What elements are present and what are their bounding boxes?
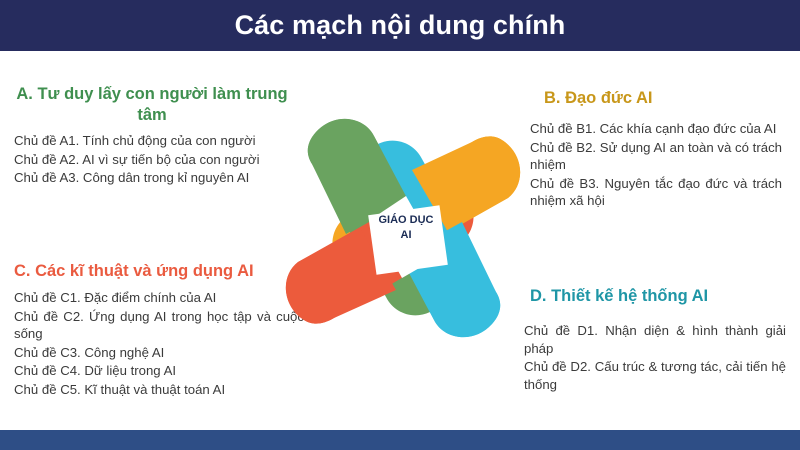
section-c: C. Các kĩ thuật và ứng dụng AI Chủ đề C1… [14, 261, 304, 399]
slide-canvas: Các mạch nội dung chính A. Tư duy lấy co… [0, 0, 800, 450]
section-d: D. Thiết kế hệ thống AI Chủ đề D1. Nhận … [524, 286, 786, 394]
topic-b1: Chủ đề B1. Các khía cạnh đạo đức của AI [530, 120, 782, 138]
topic-d1: Chủ đề D1. Nhận diện & hình thành giải p… [524, 322, 786, 357]
section-c-heading: C. Các kĩ thuật và ứng dụng AI [14, 261, 304, 282]
topic-b3: Chủ đề B3. Nguyên tắc đạo đức và trách n… [530, 175, 782, 210]
section-b-heading: B. Đạo đức AI [544, 88, 782, 109]
pinwheel-diagram [272, 92, 540, 360]
topic-a3: Chủ đề A3. Công dân trong kỉ nguyên AI [14, 169, 290, 187]
topic-a2: Chủ đề A2. AI vì sự tiến bộ của con ngườ… [14, 151, 290, 169]
footer-bar [0, 430, 800, 450]
topic-d2: Chủ đề D2. Cấu trúc & tương tác, cải tiế… [524, 358, 786, 393]
section-a: A. Tư duy lấy con người làm trung tâm Ch… [14, 84, 290, 188]
topic-a1: Chủ đề A1. Tính chủ động của con người [14, 132, 290, 150]
section-d-heading: D. Thiết kế hệ thống AI [530, 286, 786, 307]
topic-c5: Chủ đề C5. Kĩ thuật và thuật toán AI [14, 381, 304, 399]
section-a-heading: A. Tư duy lấy con người làm trung tâm [14, 84, 290, 126]
header-bar: Các mạch nội dung chính [0, 0, 800, 51]
page-title: Các mạch nội dung chính [235, 12, 566, 39]
topic-c4: Chủ đề C4. Dữ liệu trong AI [14, 362, 304, 380]
topic-c3: Chủ đề C3. Công nghệ AI [14, 344, 304, 362]
topic-b2: Chủ đề B2. Sử dụng AI an toàn và có trác… [530, 139, 782, 174]
topic-c1: Chủ đề C1. Đặc điểm chính của AI [14, 289, 304, 307]
topic-c2: Chủ đề C2. Ứng dụng AI trong học tập và … [14, 308, 304, 343]
section-b: B. Đạo đức AI Chủ đề B1. Các khía cạnh đ… [530, 88, 782, 211]
